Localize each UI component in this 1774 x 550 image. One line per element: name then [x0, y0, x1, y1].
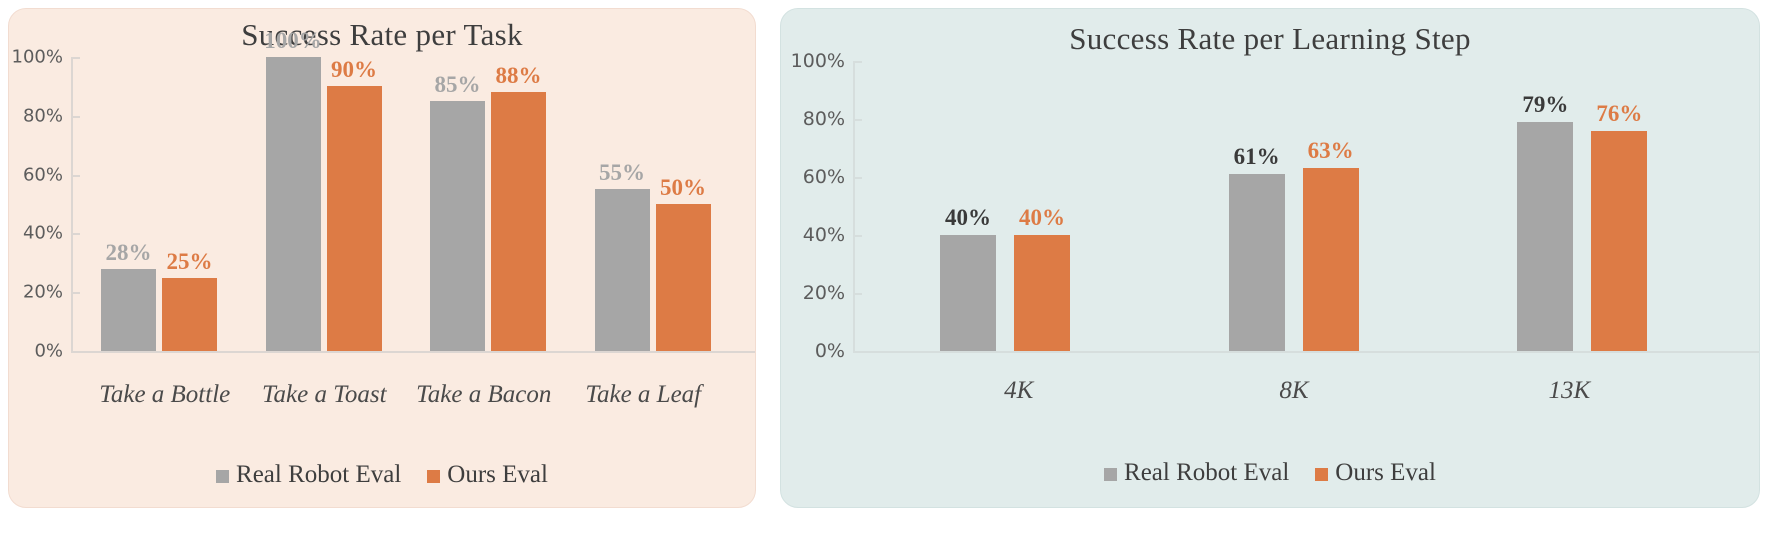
legend-swatch-icon: [427, 470, 440, 483]
bar[interactable]: [656, 204, 711, 351]
x-axis-baseline: [853, 351, 1759, 353]
bar-value-label: 100%: [264, 28, 322, 54]
bar-value-label: 25%: [167, 249, 213, 275]
bar[interactable]: [940, 235, 996, 351]
y-axis-line: [853, 61, 855, 351]
x-category-label: Take a Bacon: [404, 381, 564, 409]
y-tick-label: 0%: [34, 341, 63, 362]
legend-item[interactable]: Ours Eval: [1315, 459, 1436, 487]
legend-task: Real Robot EvalOurs Eval: [9, 461, 755, 489]
y-tick-label: 60%: [803, 166, 845, 188]
legend-label: Ours Eval: [447, 461, 548, 489]
bar[interactable]: [162, 278, 217, 352]
y-tick-label: 20%: [803, 282, 845, 304]
bar-value-label: 85%: [435, 72, 481, 98]
chart-title-task: Success Rate per Task: [9, 9, 755, 53]
figure-root: Success Rate per Task 0%20%40%60%80%100%…: [0, 0, 1774, 550]
bar-value-label: 40%: [1019, 205, 1065, 231]
legend-swatch-icon: [1315, 468, 1328, 481]
bar[interactable]: [1229, 174, 1285, 351]
bar-group: 79%76%: [1444, 61, 1733, 351]
legend-swatch-icon: [1104, 468, 1117, 481]
y-tick-label: 60%: [23, 164, 63, 185]
bar-group: 100%90%: [244, 57, 409, 351]
x-axis-baseline: [71, 351, 755, 353]
legend-item[interactable]: Real Robot Eval: [216, 461, 401, 489]
bar[interactable]: [1303, 168, 1359, 351]
legend-label: Real Robot Eval: [1124, 459, 1289, 487]
legend-swatch-icon: [216, 470, 229, 483]
bar-value-label: 50%: [660, 175, 706, 201]
chart-panel-learning-step: Success Rate per Learning Step 0%20%40%6…: [780, 8, 1760, 508]
y-tick-label: 40%: [803, 224, 845, 246]
bar-value-label: 55%: [599, 160, 645, 186]
legend-label: Ours Eval: [1335, 459, 1436, 487]
bar-group: 40%40%: [867, 61, 1156, 351]
bar[interactable]: [1014, 235, 1070, 351]
y-tick-label: 100%: [791, 50, 845, 72]
bar-groups-learning-step: 40%40%61%63%79%76%: [867, 61, 1733, 351]
bar[interactable]: [595, 189, 650, 351]
x-axis-categories-learning-step: 4K8K13K: [881, 377, 1707, 405]
x-category-label: 8K: [1156, 377, 1431, 405]
bar-group: 61%63%: [1156, 61, 1445, 351]
chart-panel-task: Success Rate per Task 0%20%40%60%80%100%…: [8, 8, 756, 508]
x-axis-categories-task: Take a BottleTake a ToastTake a BaconTak…: [85, 381, 723, 409]
y-tick-label: 100%: [12, 47, 63, 68]
x-category-label: Take a Bottle: [85, 381, 245, 409]
x-category-label: Take a Toast: [245, 381, 405, 409]
bar[interactable]: [327, 86, 382, 351]
bar-group: 55%50%: [573, 57, 738, 351]
y-tick-label: 0%: [815, 340, 845, 362]
legend-label: Real Robot Eval: [236, 461, 401, 489]
bar-value-label: 79%: [1522, 92, 1568, 118]
bar[interactable]: [1591, 131, 1647, 351]
bar[interactable]: [266, 57, 321, 351]
legend-item[interactable]: Ours Eval: [427, 461, 548, 489]
bar-groups-task: 28%25%100%90%85%88%55%50%: [79, 57, 737, 351]
x-category-label: 4K: [881, 377, 1156, 405]
bar-group: 28%25%: [79, 57, 244, 351]
chart-title-learning-step: Success Rate per Learning Step: [781, 9, 1759, 57]
x-category-label: 13K: [1432, 377, 1707, 405]
bar[interactable]: [491, 92, 546, 351]
bar-value-label: 61%: [1234, 144, 1280, 170]
legend-learning-step: Real Robot EvalOurs Eval: [781, 459, 1759, 487]
bar-group: 85%88%: [408, 57, 573, 351]
y-tick-label: 40%: [23, 223, 63, 244]
x-category-label: Take a Leaf: [564, 381, 724, 409]
y-axis-line: [71, 57, 73, 351]
bar-value-label: 76%: [1596, 101, 1642, 127]
bar-value-label: 90%: [331, 57, 377, 83]
y-tick-label: 80%: [803, 108, 845, 130]
y-tick-label: 20%: [23, 282, 63, 303]
bar[interactable]: [430, 101, 485, 351]
bar-value-label: 40%: [945, 205, 991, 231]
bar[interactable]: [1517, 122, 1573, 351]
y-tick-label: 80%: [23, 105, 63, 126]
bar-value-label: 28%: [106, 240, 152, 266]
bar-value-label: 63%: [1308, 138, 1354, 164]
legend-item[interactable]: Real Robot Eval: [1104, 459, 1289, 487]
bar-value-label: 88%: [496, 63, 542, 89]
bar[interactable]: [101, 269, 156, 351]
